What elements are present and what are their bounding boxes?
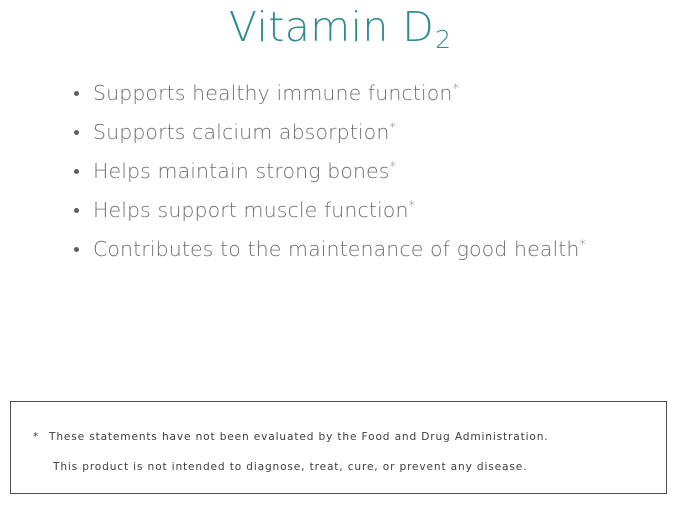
list-item-text: Contributes to the maintenance of good h… xyxy=(93,237,580,261)
list-item-text: Helps maintain strong bones xyxy=(93,159,390,183)
benefits-list: Supports healthy immune function* Suppor… xyxy=(74,74,664,269)
footnote-marker: * xyxy=(409,199,416,214)
list-item: Contributes to the maintenance of good h… xyxy=(74,230,664,269)
list-item-label: Supports healthy immune function* xyxy=(93,74,459,113)
list-item-text: Supports calcium absorption xyxy=(93,120,389,144)
disclaimer-line-1: *These statements have not been evaluate… xyxy=(33,431,548,443)
page-title-container: Vitamin D2 xyxy=(0,0,679,60)
list-item-text: Supports healthy immune function xyxy=(93,81,452,105)
page-title-subscript: 2 xyxy=(435,25,451,54)
disclaimer-line-2: This product is not intended to diagnose… xyxy=(53,461,527,473)
list-item-label: Helps maintain strong bones* xyxy=(93,152,396,191)
list-item-text: Helps support muscle function xyxy=(93,198,409,222)
list-item: Supports calcium absorption* xyxy=(74,113,664,152)
list-item-label: Contributes to the maintenance of good h… xyxy=(93,230,586,269)
product-benefits-panel: Vitamin D2 Supports healthy immune funct… xyxy=(0,0,679,506)
footnote-marker: * xyxy=(452,82,459,97)
list-item: Supports healthy immune function* xyxy=(74,74,664,113)
list-item-label: Supports calcium absorption* xyxy=(93,113,396,152)
list-item: Helps support muscle function* xyxy=(74,191,664,230)
footnote-marker: * xyxy=(390,160,397,175)
page-title-text: Vitamin D xyxy=(229,3,434,51)
bullet-dot-icon xyxy=(74,91,79,96)
footnote-marker: * xyxy=(389,121,396,136)
disclaimer-box: *These statements have not been evaluate… xyxy=(10,401,667,494)
bullet-dot-icon xyxy=(74,208,79,213)
page-title: Vitamin D2 xyxy=(229,0,450,60)
disclaimer-line-1-text: These statements have not been evaluated… xyxy=(49,431,548,443)
bullet-dot-icon xyxy=(74,169,79,174)
footnote-marker: * xyxy=(580,238,587,253)
list-item-label: Helps support muscle function* xyxy=(93,191,415,230)
disclaimer-asterisk: * xyxy=(33,431,49,443)
bullet-dot-icon xyxy=(74,247,79,252)
bullet-dot-icon xyxy=(74,130,79,135)
list-item: Helps maintain strong bones* xyxy=(74,152,664,191)
